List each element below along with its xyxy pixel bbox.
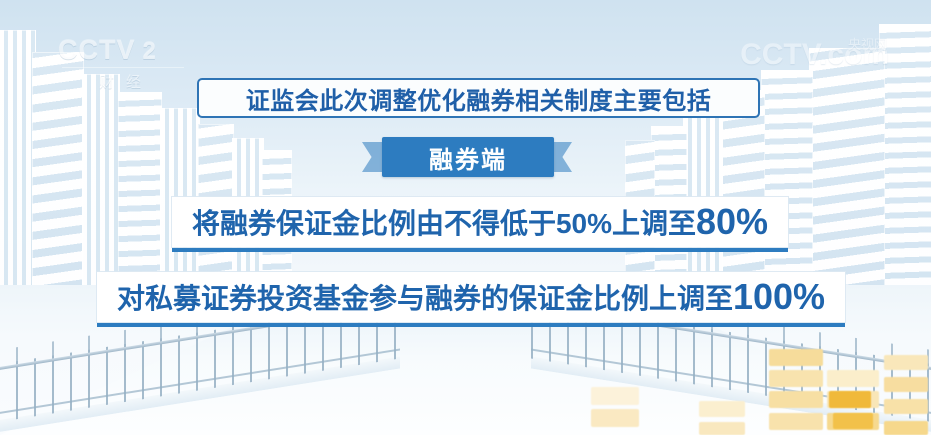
cctv-wordmark: CCTV <box>58 35 136 65</box>
caption-section-banner: 融券端 <box>382 137 554 177</box>
gold-bar <box>769 391 823 408</box>
gold-bars-group <box>571 325 931 435</box>
gold-bar <box>884 377 928 392</box>
caption-section-banner-text: 融券端 <box>429 140 507 175</box>
gold-bar <box>833 413 873 429</box>
caption-point-one-text: 将融券保证金比例由不得低于50%上调至 <box>192 202 696 242</box>
gold-bar <box>884 355 928 370</box>
gold-bar <box>829 391 871 408</box>
gold-bar <box>827 370 879 387</box>
gold-bar <box>769 413 823 430</box>
cctv2-channel-logo: CCTV2 财经 <box>58 36 188 92</box>
gold-bar <box>769 370 823 387</box>
gold-bar <box>591 409 639 427</box>
caption-point-two-underline <box>97 323 845 327</box>
channel-number: 2 <box>139 38 161 66</box>
caption-point-two-box: 对私募证券投资基金参与融券的保证金比例上调至100% <box>97 272 845 322</box>
caption-point-two-emphasis: 100% <box>733 276 825 318</box>
caption-headline-text: 证监会此次调整优化融券相关制度主要包括 <box>246 81 712 116</box>
caption-headline-box: 证监会此次调整优化融券相关制度主要包括 <box>197 78 760 118</box>
channel-sublabel: 财经 <box>58 71 188 92</box>
gold-bar <box>884 421 928 435</box>
gold-bar <box>699 422 745 435</box>
caption-point-one-underline <box>172 248 788 252</box>
logo-divider <box>62 67 184 68</box>
broadcast-frame: CCTV2 财经 央视网 CCTV.com 证监会此次调整优化融券相关制度主要包… <box>0 0 931 435</box>
caption-point-one-emphasis: 80% <box>696 201 768 243</box>
gold-bar <box>591 387 639 405</box>
gold-bar <box>884 399 928 414</box>
caption-point-two-text: 对私募证券投资基金参与融券的保证金比例上调至 <box>117 277 733 317</box>
caption-point-one-box: 将融券保证金比例由不得低于50%上调至80% <box>172 197 788 247</box>
gold-bar <box>769 349 823 366</box>
gold-bar <box>699 401 745 417</box>
